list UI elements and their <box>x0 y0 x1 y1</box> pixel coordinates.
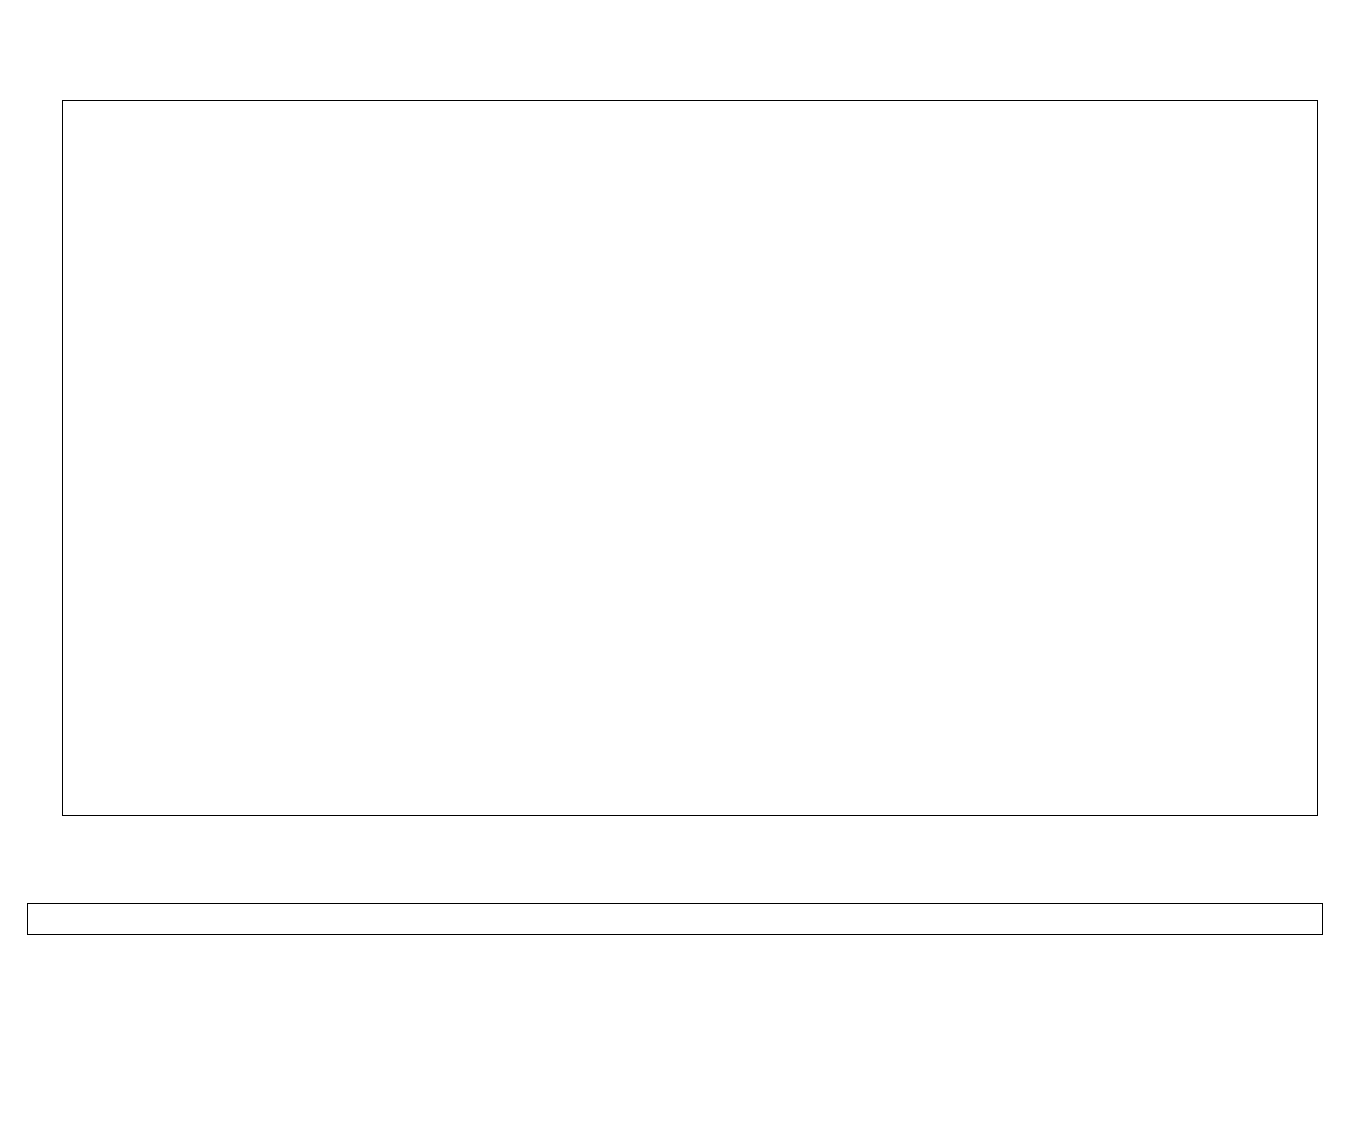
roc-heatmap-canvas <box>63 101 1318 816</box>
colorbar <box>27 903 1323 935</box>
figure-root <box>0 0 1350 1125</box>
colorbar-wrapper <box>27 903 1323 935</box>
map-plot-area <box>62 100 1318 816</box>
